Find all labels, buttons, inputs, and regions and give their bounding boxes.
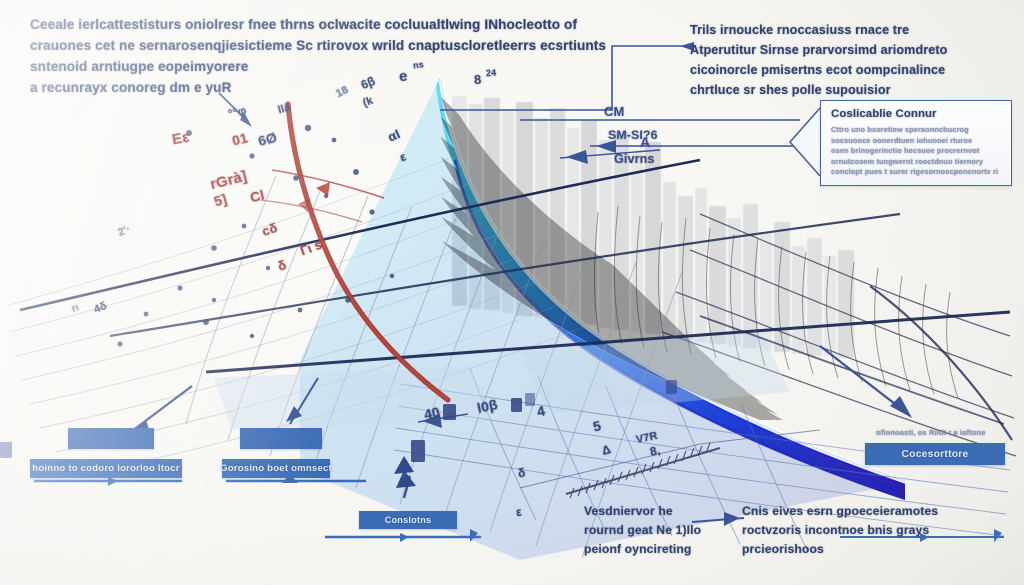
math-glyph: Eε bbox=[171, 129, 191, 149]
label-delta: A bbox=[640, 134, 650, 150]
chip-1-slab bbox=[68, 428, 154, 449]
chip-2-slab bbox=[240, 428, 322, 449]
bottom-right-line: prcieorishoos bbox=[742, 540, 972, 559]
info-box-line: Cttro uno bsoretiew speraonncbucrog bbox=[831, 125, 1003, 136]
conclusion-caption: ofionoasti, os Rildt r.a iaftone bbox=[876, 428, 1008, 437]
bottom-left-line: peionf oyncireting bbox=[584, 540, 704, 559]
top-callout-paragraph: Trils irnoucke rnoccasiuss rnace tre Atp… bbox=[690, 20, 990, 100]
info-callout-box[interactable]: Coslicablie Connur Cttro uno bsoretiew s… bbox=[820, 100, 1012, 186]
info-box-line: conciopt pues t surer rigesornoscponcnor… bbox=[831, 167, 1003, 178]
intro-line: sntenoid arntiugpe eopeimyorere bbox=[30, 56, 590, 77]
chip-1-label[interactable]: hoinno to codoro lororloo Itocr bbox=[30, 459, 182, 478]
bottom-left-line: rournd geat Ne 1)Ilo bbox=[584, 521, 704, 540]
chip-2-label[interactable]: Gorosino boet omnsect bbox=[222, 459, 330, 478]
bottom-right-note: Cnis eives esrn gpoeceieramotes roctvzor… bbox=[742, 502, 972, 559]
math-glyph: 8 bbox=[473, 72, 481, 87]
bottom-left-note: Vesdniervor he rournd geat Ne 1)Ilo peio… bbox=[584, 502, 704, 559]
bottom-right-line: roctvzoris incontnoe bnis grays bbox=[742, 521, 972, 540]
intro-line: a recunrayx conoreg dm e yuR bbox=[30, 77, 590, 98]
chip-4-conclusions[interactable]: Cocesorttore bbox=[865, 443, 1005, 465]
intro-line: Ceeale ierlcattestisturs oniolresr fnee … bbox=[30, 14, 590, 35]
intro-paragraph: Ceeale ierlcattestisturs oniolresr fnee … bbox=[30, 14, 590, 98]
intro-line: crauones cet ne sernarosenqjiesictieme S… bbox=[30, 35, 590, 56]
math-glyph: ns bbox=[412, 59, 424, 70]
info-box-body: Cttro uno bsoretiew speraonncbucrog socs… bbox=[831, 125, 1003, 178]
top-callout-line: Atperutitur Sirnse prarvorsimd ariomdret… bbox=[690, 40, 990, 60]
top-callout-line: cicoinorcle pmisertns ecot oompcinalince bbox=[690, 60, 990, 80]
top-callout-line: Trils irnoucke rnoccasiuss rnace tre bbox=[690, 20, 990, 40]
info-box-title: Coslicablie Connur bbox=[831, 108, 937, 120]
bottom-left-line: Vesdniervor he bbox=[584, 502, 704, 521]
label-givns: Givrns bbox=[614, 152, 655, 166]
info-box-line: osen brinogerinctio hecsuoe procrernvot bbox=[831, 146, 1003, 157]
math-glyph: e bbox=[398, 68, 408, 86]
info-box-line: ornutcosem tungwernt rooctdnuo tiernory bbox=[831, 157, 1003, 168]
top-callout-line: chrtluce sr shes polle supouisior bbox=[690, 80, 990, 100]
label-cm: CM bbox=[604, 104, 624, 119]
math-glyph: 24 bbox=[486, 68, 497, 79]
bottom-right-line: Cnis eives esrn gpoeceieramotes bbox=[742, 502, 972, 521]
info-box-line: socsuooce oonerdtuen iohuooei rturoe bbox=[831, 136, 1003, 147]
illustration-canvas: Ceeale ierlcattestisturs oniolresr fnee … bbox=[0, 0, 1024, 585]
chip-3-constraints[interactable]: Conslotns bbox=[359, 511, 457, 529]
